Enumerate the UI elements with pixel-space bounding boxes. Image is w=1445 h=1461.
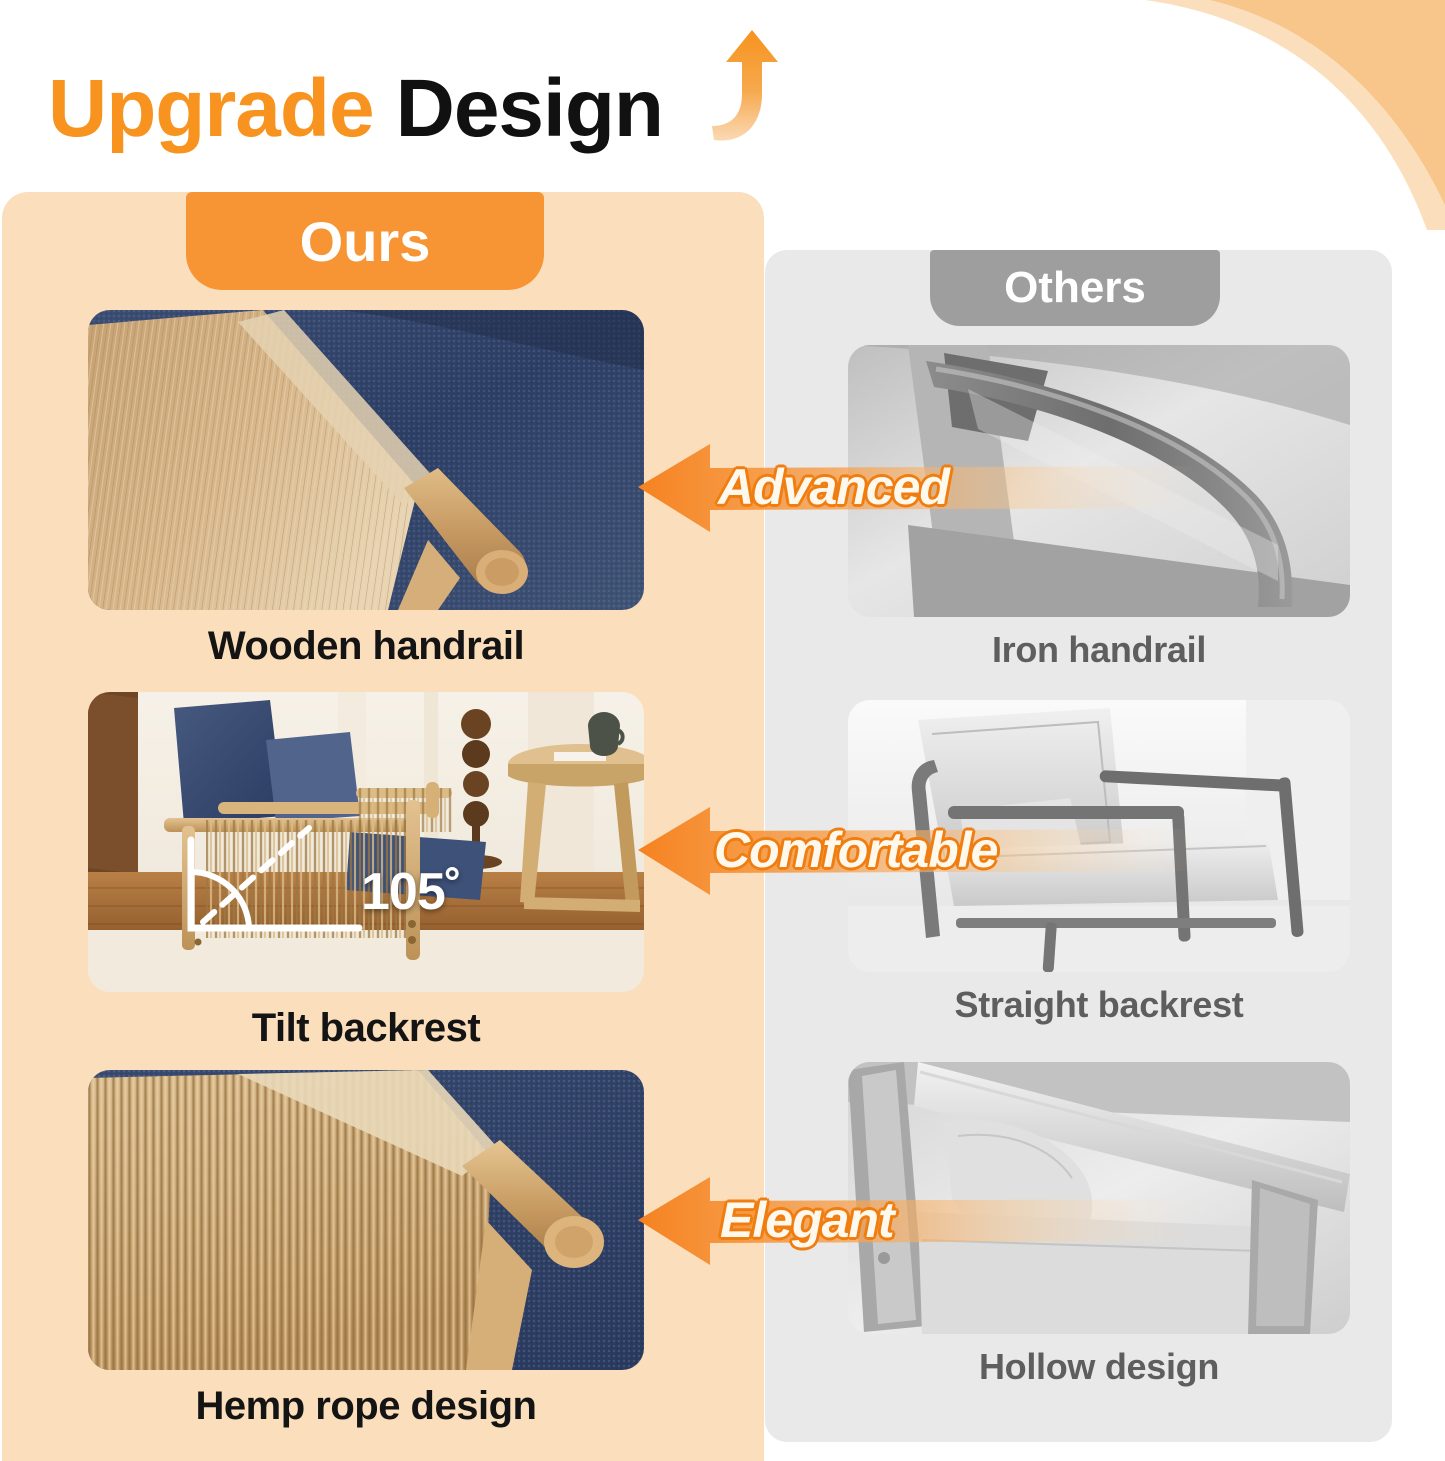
ours-item-3: Hemp rope design — [88, 1070, 644, 1429]
ours-item-1: Wooden handrail — [88, 310, 644, 669]
title-upgrade: Upgrade — [48, 63, 374, 154]
caption-tilt-backrest: Tilt backrest — [88, 1006, 644, 1051]
others-item-3: Hollow design — [848, 1062, 1350, 1388]
image-hollow-design — [848, 1062, 1350, 1334]
caption-wooden-handrail: Wooden handrail — [88, 624, 644, 669]
image-iron-handrail — [848, 345, 1350, 617]
tab-others[interactable]: Others — [930, 250, 1220, 326]
image-wooden-handrail — [88, 310, 644, 610]
curved-up-arrow-icon — [700, 28, 790, 148]
others-item-1: Iron handrail — [848, 345, 1350, 671]
ours-item-2: 105˚ Tilt backrest — [88, 692, 644, 1051]
image-tilt-backrest: 105˚ — [88, 692, 644, 992]
others-item-2: Straight backrest — [848, 700, 1350, 1026]
caption-iron-handrail: Iron handrail — [848, 629, 1350, 671]
image-straight-backrest — [848, 700, 1350, 972]
caption-hollow-design: Hollow design — [848, 1346, 1350, 1388]
page-title: UpgradeDesign — [48, 40, 663, 150]
angle-annotation-105: 105˚ — [183, 810, 413, 960]
angle-value: 105˚ — [361, 862, 461, 922]
caption-hemp-rope-design: Hemp rope design — [88, 1384, 644, 1429]
caption-straight-backrest: Straight backrest — [848, 984, 1350, 1026]
tab-ours[interactable]: Ours — [186, 192, 544, 290]
corner-swoosh-decoration — [1025, 0, 1445, 230]
image-hemp-rope-design — [88, 1070, 644, 1370]
title-design: Design — [396, 63, 663, 154]
